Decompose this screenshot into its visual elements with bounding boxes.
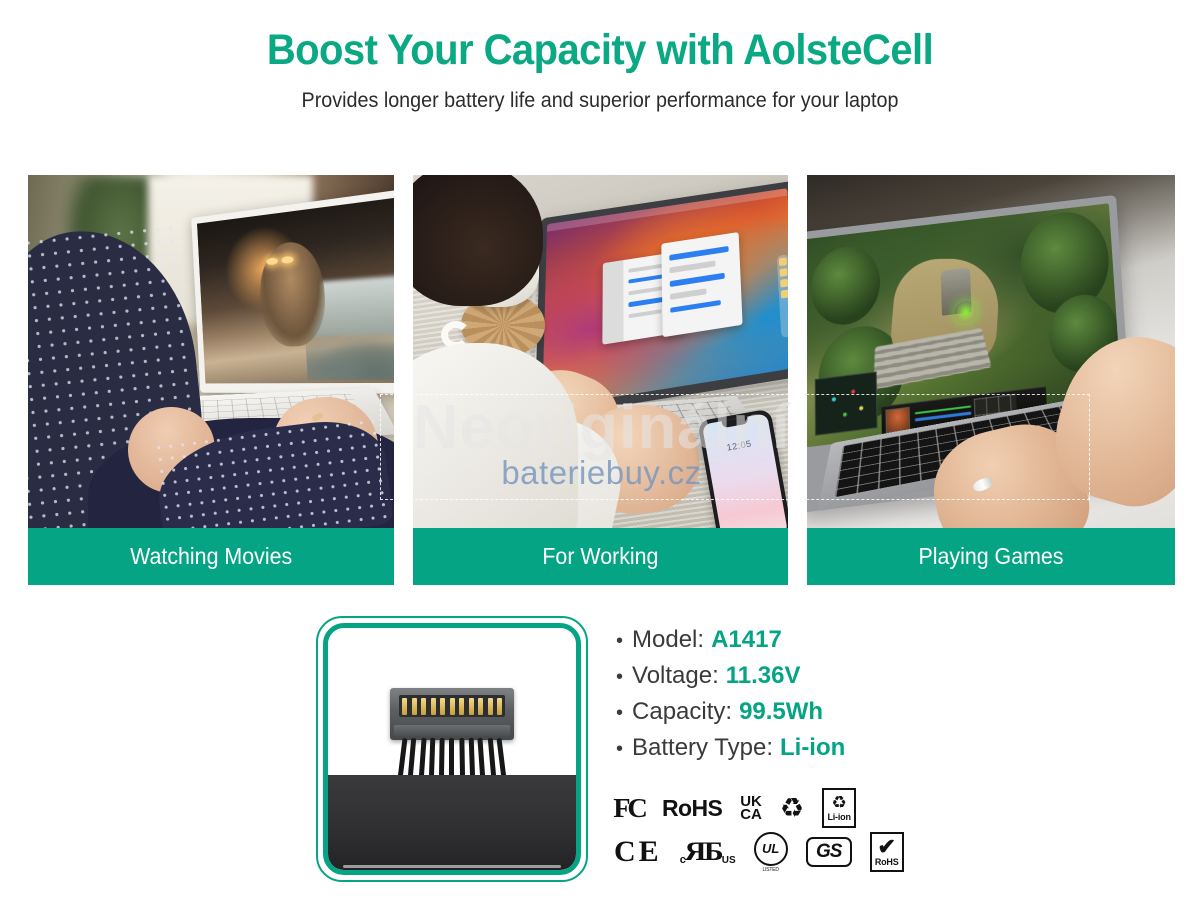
caption-text-1: Watching Movies	[130, 543, 292, 570]
rohs-box-label: RoHS	[875, 857, 899, 867]
spec-value-model: A1417	[711, 626, 782, 654]
connector-housing-icon	[390, 688, 514, 740]
rohs-icon: RoHS	[662, 795, 722, 822]
gs-mark: GS	[806, 837, 852, 867]
bullet-icon: •	[616, 666, 623, 689]
fcc-icon: FC	[613, 793, 645, 824]
spec-row-model: • Model: A1417	[616, 626, 845, 654]
certification-badges: FC RoHS UK CA ♻ ♻ Li-ion CE c ЯБ US	[614, 786, 914, 874]
recycle-icon: ♻	[780, 795, 804, 822]
bullet-icon: •	[616, 702, 623, 725]
caption-text-2: For Working	[542, 543, 658, 570]
bullet-icon: •	[616, 738, 623, 761]
caption-text-3: Playing Games	[918, 543, 1063, 570]
bullet-icon: •	[616, 630, 623, 653]
spec-value-capacity: 99.5Wh	[739, 698, 823, 726]
spec-label-model: Model:	[632, 626, 704, 654]
rohs-check-glyph: ✔	[877, 837, 895, 857]
product-connector-photo	[323, 623, 581, 875]
spec-list: • Model: A1417 • Voltage: 11.36V • Capac…	[616, 626, 845, 770]
rohs-check-box-icon: ✔ RoHS	[870, 832, 904, 872]
page-header: Boost Your Capacity with AolsteCell Prov…	[0, 0, 1200, 113]
ukca-icon: UK CA	[740, 795, 762, 821]
feature-panel-watching-movies[interactable]: Watching Movies	[28, 175, 394, 585]
ul-sub-label: LISTED	[763, 867, 779, 873]
product-section: • Model: A1417 • Voltage: 11.36V • Capac…	[0, 600, 1200, 900]
product-image-frame	[316, 616, 588, 882]
page-subtitle: Provides longer battery life and superio…	[36, 89, 1164, 113]
spec-value-voltage: 11.36V	[726, 662, 801, 690]
spec-label-voltage: Voltage:	[632, 662, 719, 690]
badge-row-1: FC RoHS UK CA ♻ ♻ Li-ion	[614, 786, 914, 830]
liion-recycle-box-icon: ♻ Li-ion	[822, 788, 856, 828]
cul-us-letters: US	[722, 855, 736, 866]
gs-icon: GS	[806, 837, 852, 867]
photo-playing-games	[807, 175, 1175, 528]
feature-panel-for-working[interactable]: 12:05 For Working	[413, 175, 788, 585]
battery-body	[323, 775, 581, 872]
photo-watching-movies	[28, 175, 394, 528]
ce-icon: CE	[614, 835, 662, 869]
panel-caption-1: Watching Movies	[28, 528, 394, 585]
spec-row-capacity: • Capacity: 99.5Wh	[616, 698, 845, 726]
ul-mark-glyph: ЯБ	[684, 837, 721, 867]
spec-row-voltage: • Voltage: 11.36V	[616, 662, 845, 690]
feature-panels: Watching Movies	[28, 175, 1175, 585]
page-title: Boost Your Capacity with AolsteCell	[42, 26, 1158, 75]
laptop-lid-icon	[191, 186, 394, 393]
cul-us-icon: c ЯБ US	[680, 837, 736, 867]
spec-value-battery-type: Li-ion	[780, 734, 845, 762]
spec-label-battery-type: Battery Type:	[632, 734, 773, 762]
panel-caption-3: Playing Games	[807, 528, 1175, 585]
feature-panel-playing-games[interactable]: Playing Games	[807, 175, 1175, 585]
ul-circle: UL	[754, 832, 788, 866]
ul-listed-icon: UL LISTED	[754, 832, 788, 873]
liion-label: Li-ion	[827, 812, 850, 822]
ukca-line2: CA	[740, 808, 762, 821]
liion-recycle-glyph: ♻	[831, 794, 846, 811]
spec-row-battery-type: • Battery Type: Li-ion	[616, 734, 845, 762]
spec-label-capacity: Capacity:	[632, 698, 732, 726]
photo-for-working: 12:05	[413, 175, 788, 528]
panel-caption-2: For Working	[413, 528, 788, 585]
badge-row-2: CE c ЯБ US UL LISTED GS ✔ RoHS	[614, 830, 914, 874]
